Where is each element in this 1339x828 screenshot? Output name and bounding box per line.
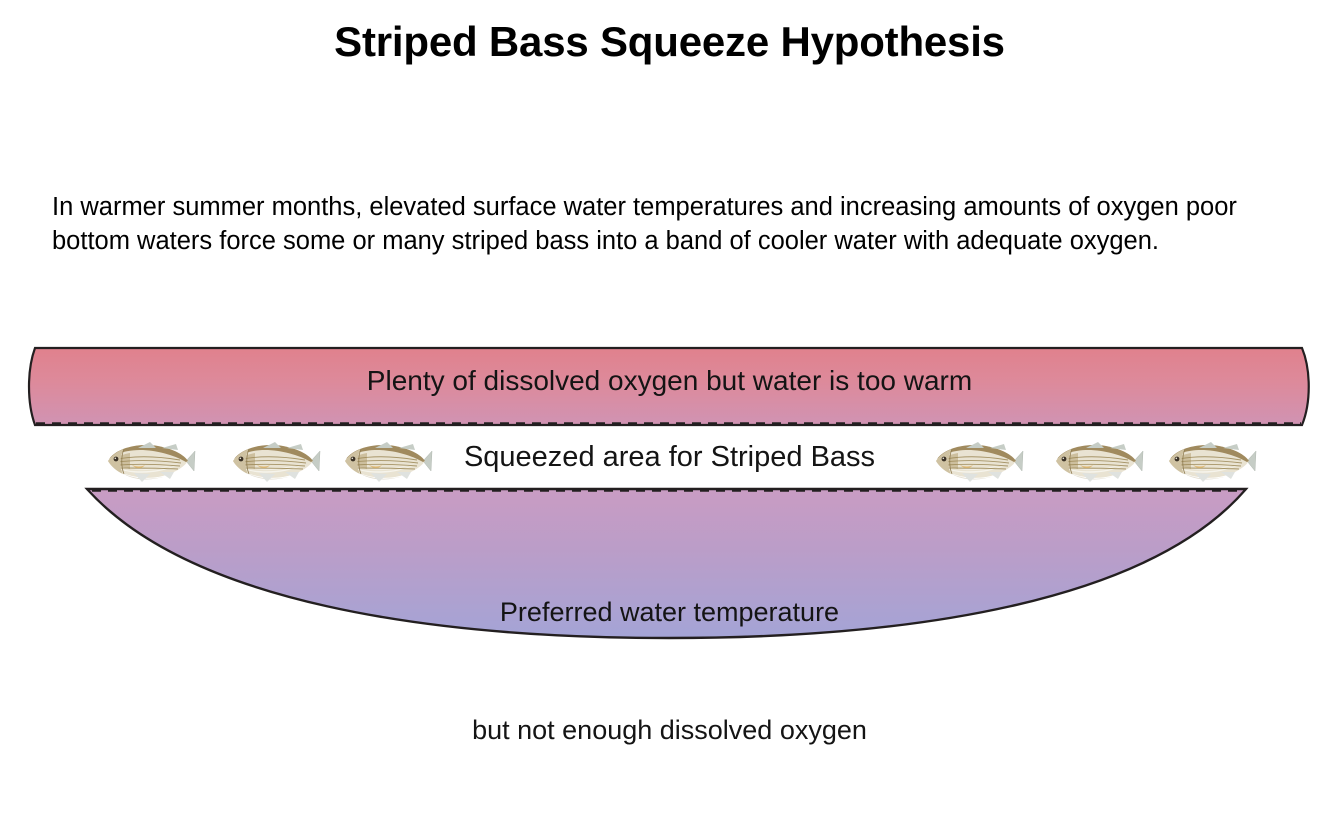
striped-bass-icon [1161, 435, 1257, 487]
diagram-shapes [0, 335, 1339, 665]
fish-row [0, 435, 1339, 487]
page-title: Striped Bass Squeeze Hypothesis [0, 18, 1339, 66]
striped-bass-icon [100, 435, 196, 487]
intro-paragraph: In warmer summer months, elevated surfac… [52, 190, 1292, 258]
striped-bass-icon [225, 435, 321, 487]
striped-bass-squeeze-diagram: Plenty of dissolved oxygen but water is … [0, 335, 1339, 665]
warm-layer-shape [29, 348, 1309, 425]
striped-bass-icon [337, 435, 433, 487]
cold-layer-label-line-2: but not enough dissolved oxygen [0, 711, 1339, 750]
cold-layer-shape [87, 489, 1246, 638]
striped-bass-icon [928, 435, 1024, 487]
striped-bass-icon [1048, 435, 1144, 487]
